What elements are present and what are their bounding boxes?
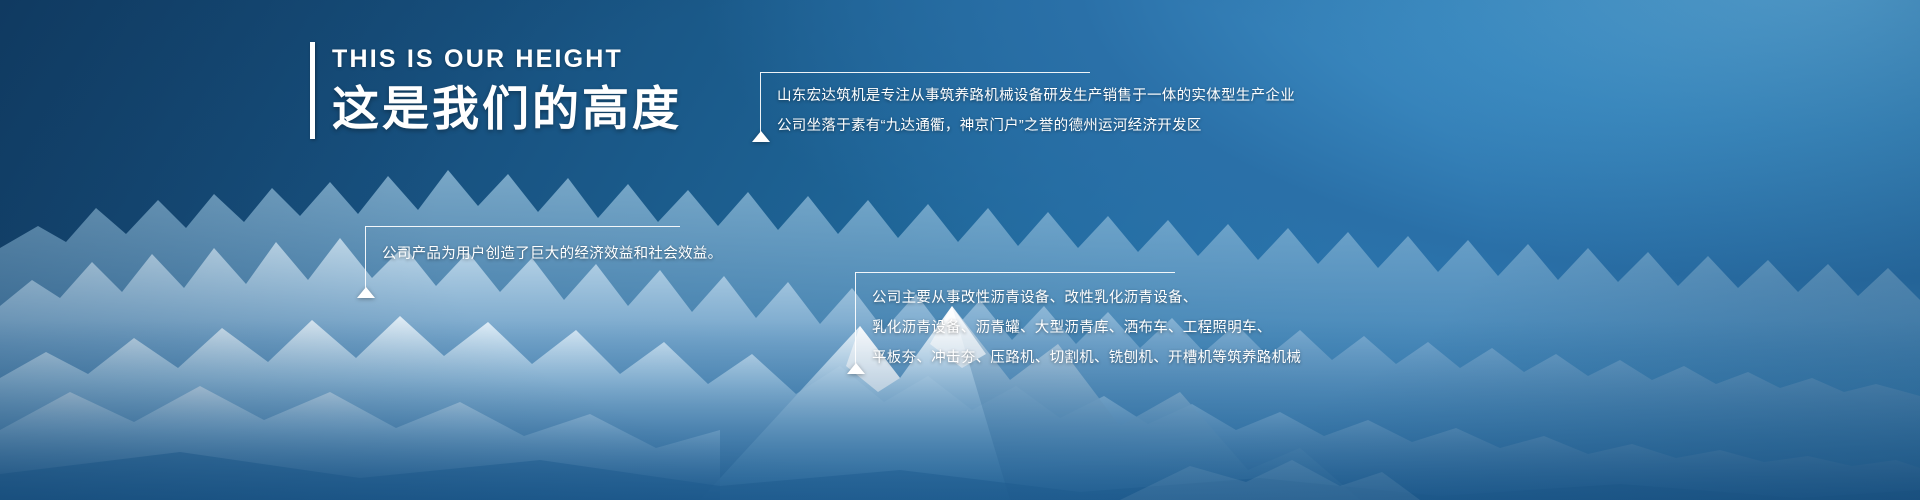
callout-pointer-triangle-icon: [752, 131, 770, 142]
callout-line: 平板夯、冲击夯、压路机、切割机、铣刨机、开槽机等筑养路机械: [856, 343, 1301, 373]
headline-text-group: THIS IS OUR HEIGHT 这是我们的高度: [332, 42, 682, 139]
callout-line: 公司产品为用户创造了巨大的经济效益和社会效益。: [366, 239, 722, 269]
headline-chinese: 这是我们的高度: [332, 79, 682, 139]
headline-english: THIS IS OUR HEIGHT: [332, 44, 682, 74]
hero-banner: THIS IS OUR HEIGHT 这是我们的高度 山东宏达筑机是专注从事筑养…: [0, 0, 1920, 500]
callout-pointer-triangle-icon: [847, 363, 865, 374]
headline-accent-bar: [310, 42, 315, 139]
callout-line: 公司主要从事改性沥青设备、改性乳化沥青设备、: [856, 283, 1301, 313]
callout-benefits: 公司产品为用户创造了巨大的经济效益和社会效益。: [365, 226, 722, 297]
callout-body: 公司主要从事改性沥青设备、改性乳化沥青设备、 乳化沥青设备、沥青罐、大型沥青库、…: [855, 273, 1301, 373]
callout-line: 公司坐落于素有“九达通衢，神京门户”之誉的德州运河经济开发区: [761, 111, 1295, 141]
banner-headline: THIS IS OUR HEIGHT 这是我们的高度: [310, 42, 682, 139]
callout-body: 公司产品为用户创造了巨大的经济效益和社会效益。: [365, 227, 722, 297]
callout-line: 乳化沥青设备、沥青罐、大型沥青库、洒布车、工程照明车、: [856, 313, 1301, 343]
callout-body: 山东宏达筑机是专注从事筑养路机械设备研发生产销售于一体的实体型生产企业 公司坐落…: [760, 73, 1295, 141]
callout-line: 山东宏达筑机是专注从事筑养路机械设备研发生产销售于一体的实体型生产企业: [761, 81, 1295, 111]
callout-company-intro: 山东宏达筑机是专注从事筑养路机械设备研发生产销售于一体的实体型生产企业 公司坐落…: [760, 72, 1295, 141]
callout-pointer-triangle-icon: [357, 287, 375, 298]
callout-products: 公司主要从事改性沥青设备、改性乳化沥青设备、 乳化沥青设备、沥青罐、大型沥青库、…: [855, 272, 1301, 373]
